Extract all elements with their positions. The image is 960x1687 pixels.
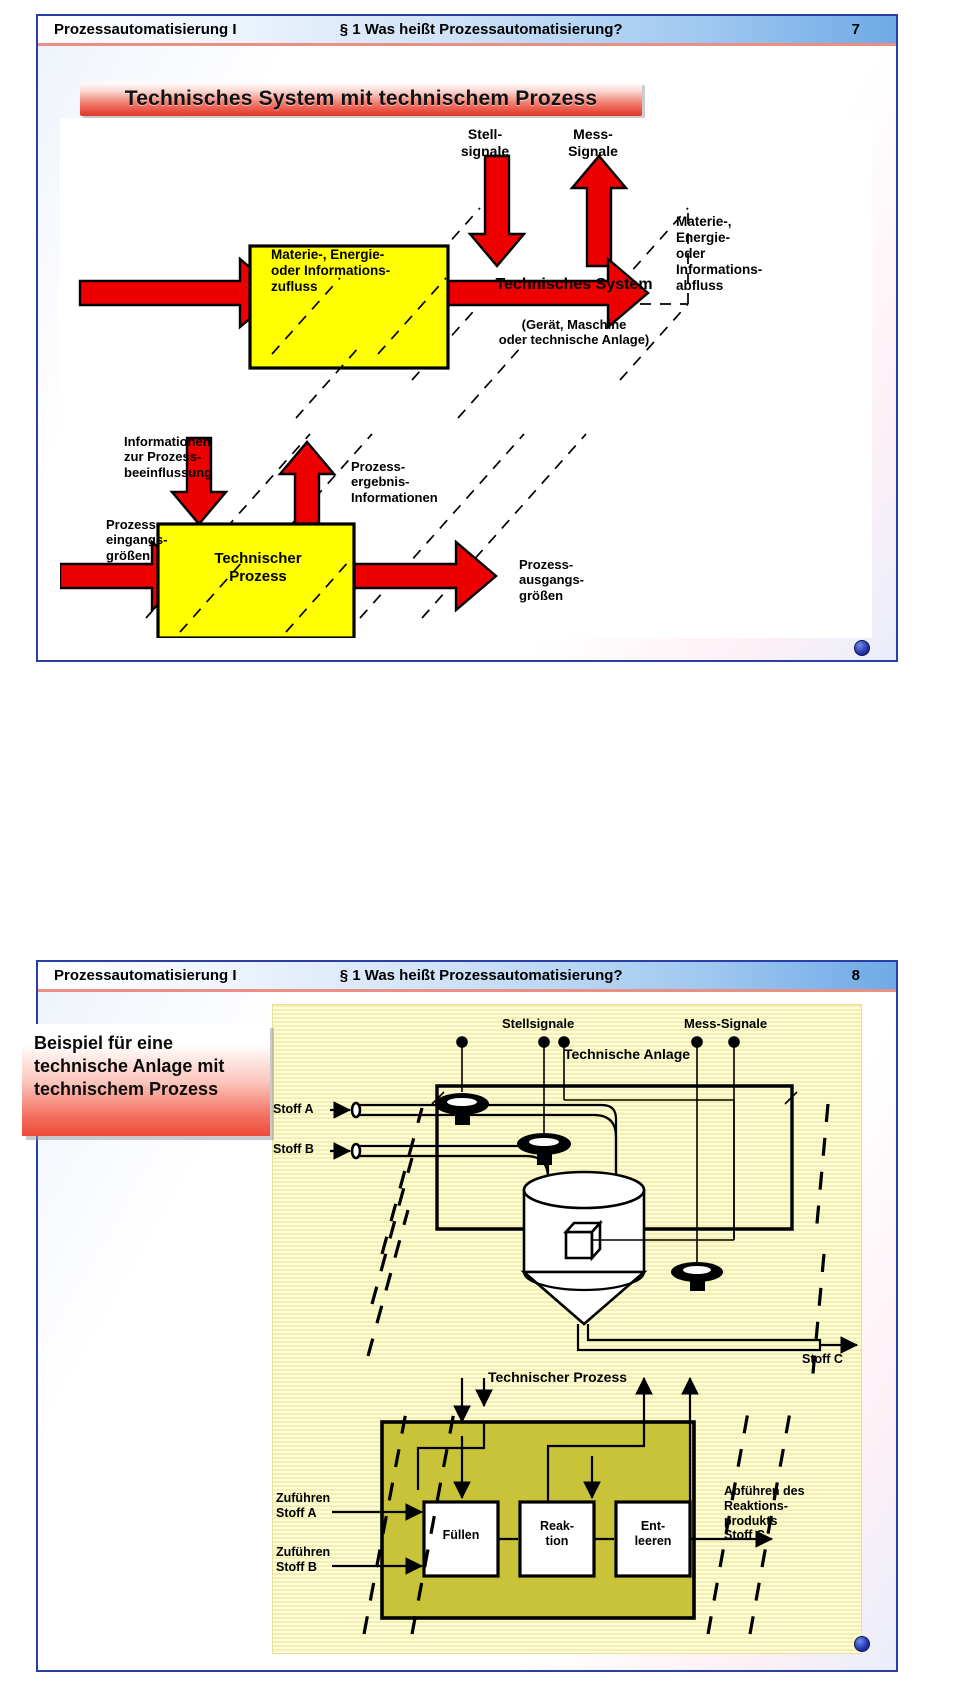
outlet-nozzle: [772, 1340, 820, 1350]
slide-8-title: Beispiel für eine technische Anlage mit …: [22, 1024, 270, 1136]
label-technisches-system-sub: (Gerät, Maschine oder technische Anlage): [472, 317, 676, 348]
header-course-title: Prozessautomatisierung I: [54, 21, 237, 38]
slide-7: Prozessautomatisierung I § 1 Was heißt P…: [36, 14, 898, 662]
slide-7-title: Technisches System mit technischem Proze…: [80, 82, 642, 116]
label-messsignale: Mess- Signale: [560, 126, 626, 159]
label-prozessergebnis: Prozess- ergebnis- Informationen: [351, 459, 438, 505]
slide-8-title-text: Beispiel für eine technische Anlage mit …: [34, 1033, 224, 1099]
label-box-reaktion: Reak- tion: [520, 1519, 594, 1549]
header-page-number: 7: [852, 21, 860, 38]
label-technischer-prozess: Technischer Prozess: [160, 550, 356, 585]
valve-a: [435, 1093, 489, 1125]
label-box-entleeren: Ent- leeren: [616, 1519, 690, 1549]
valve-b: [517, 1133, 571, 1165]
inlet-pipes: [330, 1103, 616, 1180]
header-course-title: Prozessautomatisierung I: [54, 967, 237, 984]
label-messsignale: Mess-Signale: [684, 1016, 767, 1031]
slide-8-diagram: .ln { fill:none; stroke:#000; stroke-wid…: [272, 1004, 872, 1656]
label-abfuehren: Abführen des Reaktions- produkts Stoff C: [724, 1484, 805, 1543]
messsignale-arrow: [572, 156, 626, 266]
prozessergebnis-arrow: [280, 442, 334, 528]
reactor-vessel: [524, 1172, 644, 1324]
label-technische-anlage: Technische Anlage: [564, 1046, 690, 1063]
label-prozessbeeinflussung: Informationen zur Prozess- beeinflussung: [124, 434, 212, 480]
label-technisches-system: Technisches System: [476, 276, 672, 295]
label-technischer-prozess: Technischer Prozess: [488, 1369, 627, 1386]
outlet-pipe-2: [588, 1324, 772, 1340]
label-stoff-b: Stoff B: [273, 1142, 314, 1157]
slide-8-diagram-svg: .ln { fill:none; stroke:#000; stroke-wid…: [272, 1004, 872, 1656]
label-stoff-a: Stoff A: [273, 1102, 314, 1117]
slide-7-header: Prozessautomatisierung I § 1 Was heißt P…: [38, 16, 896, 46]
slide-deck-page: Prozessautomatisierung I § 1 Was heißt P…: [0, 0, 960, 1687]
valve-c: [671, 1262, 723, 1291]
label-stellsignale: Stellsignale: [502, 1016, 574, 1031]
label-zufuehren-a: Zuführen Stoff A: [276, 1491, 330, 1521]
label-abfluss: Materie-, Energie- oder Informations- ab…: [676, 214, 762, 294]
header-section-title: § 1 Was heißt Prozessautomatisierung?: [340, 967, 623, 984]
label-prozessausgang: Prozess- ausgangs- größen: [519, 557, 584, 603]
label-stoff-c: Stoff C: [802, 1352, 843, 1367]
label-stellsignale: Stell- signale: [454, 126, 516, 159]
navigation-dot-icon[interactable]: [854, 640, 870, 656]
header-page-number: 8: [852, 967, 860, 984]
stellsignale-arrow: [470, 156, 524, 266]
label-prozesseingang: Prozess- eingangs- größen: [106, 517, 167, 563]
label-zufluss: Materie-, Energie- oder Informations- zu…: [271, 247, 390, 295]
label-box-fuellen: Füllen: [424, 1528, 498, 1543]
header-section-title: § 1 Was heißt Prozessautomatisierung?: [340, 21, 623, 38]
label-zufuehren-b: Zuführen Stoff B: [276, 1545, 330, 1575]
slide-8: Prozessautomatisierung I § 1 Was heißt P…: [36, 960, 898, 1672]
slide-8-header: Prozessautomatisierung I § 1 Was heißt P…: [38, 962, 896, 992]
navigation-dot-icon[interactable]: [854, 1636, 870, 1652]
outlet-pipe: [578, 1324, 772, 1350]
prozessausgang-arrow: [346, 542, 496, 610]
